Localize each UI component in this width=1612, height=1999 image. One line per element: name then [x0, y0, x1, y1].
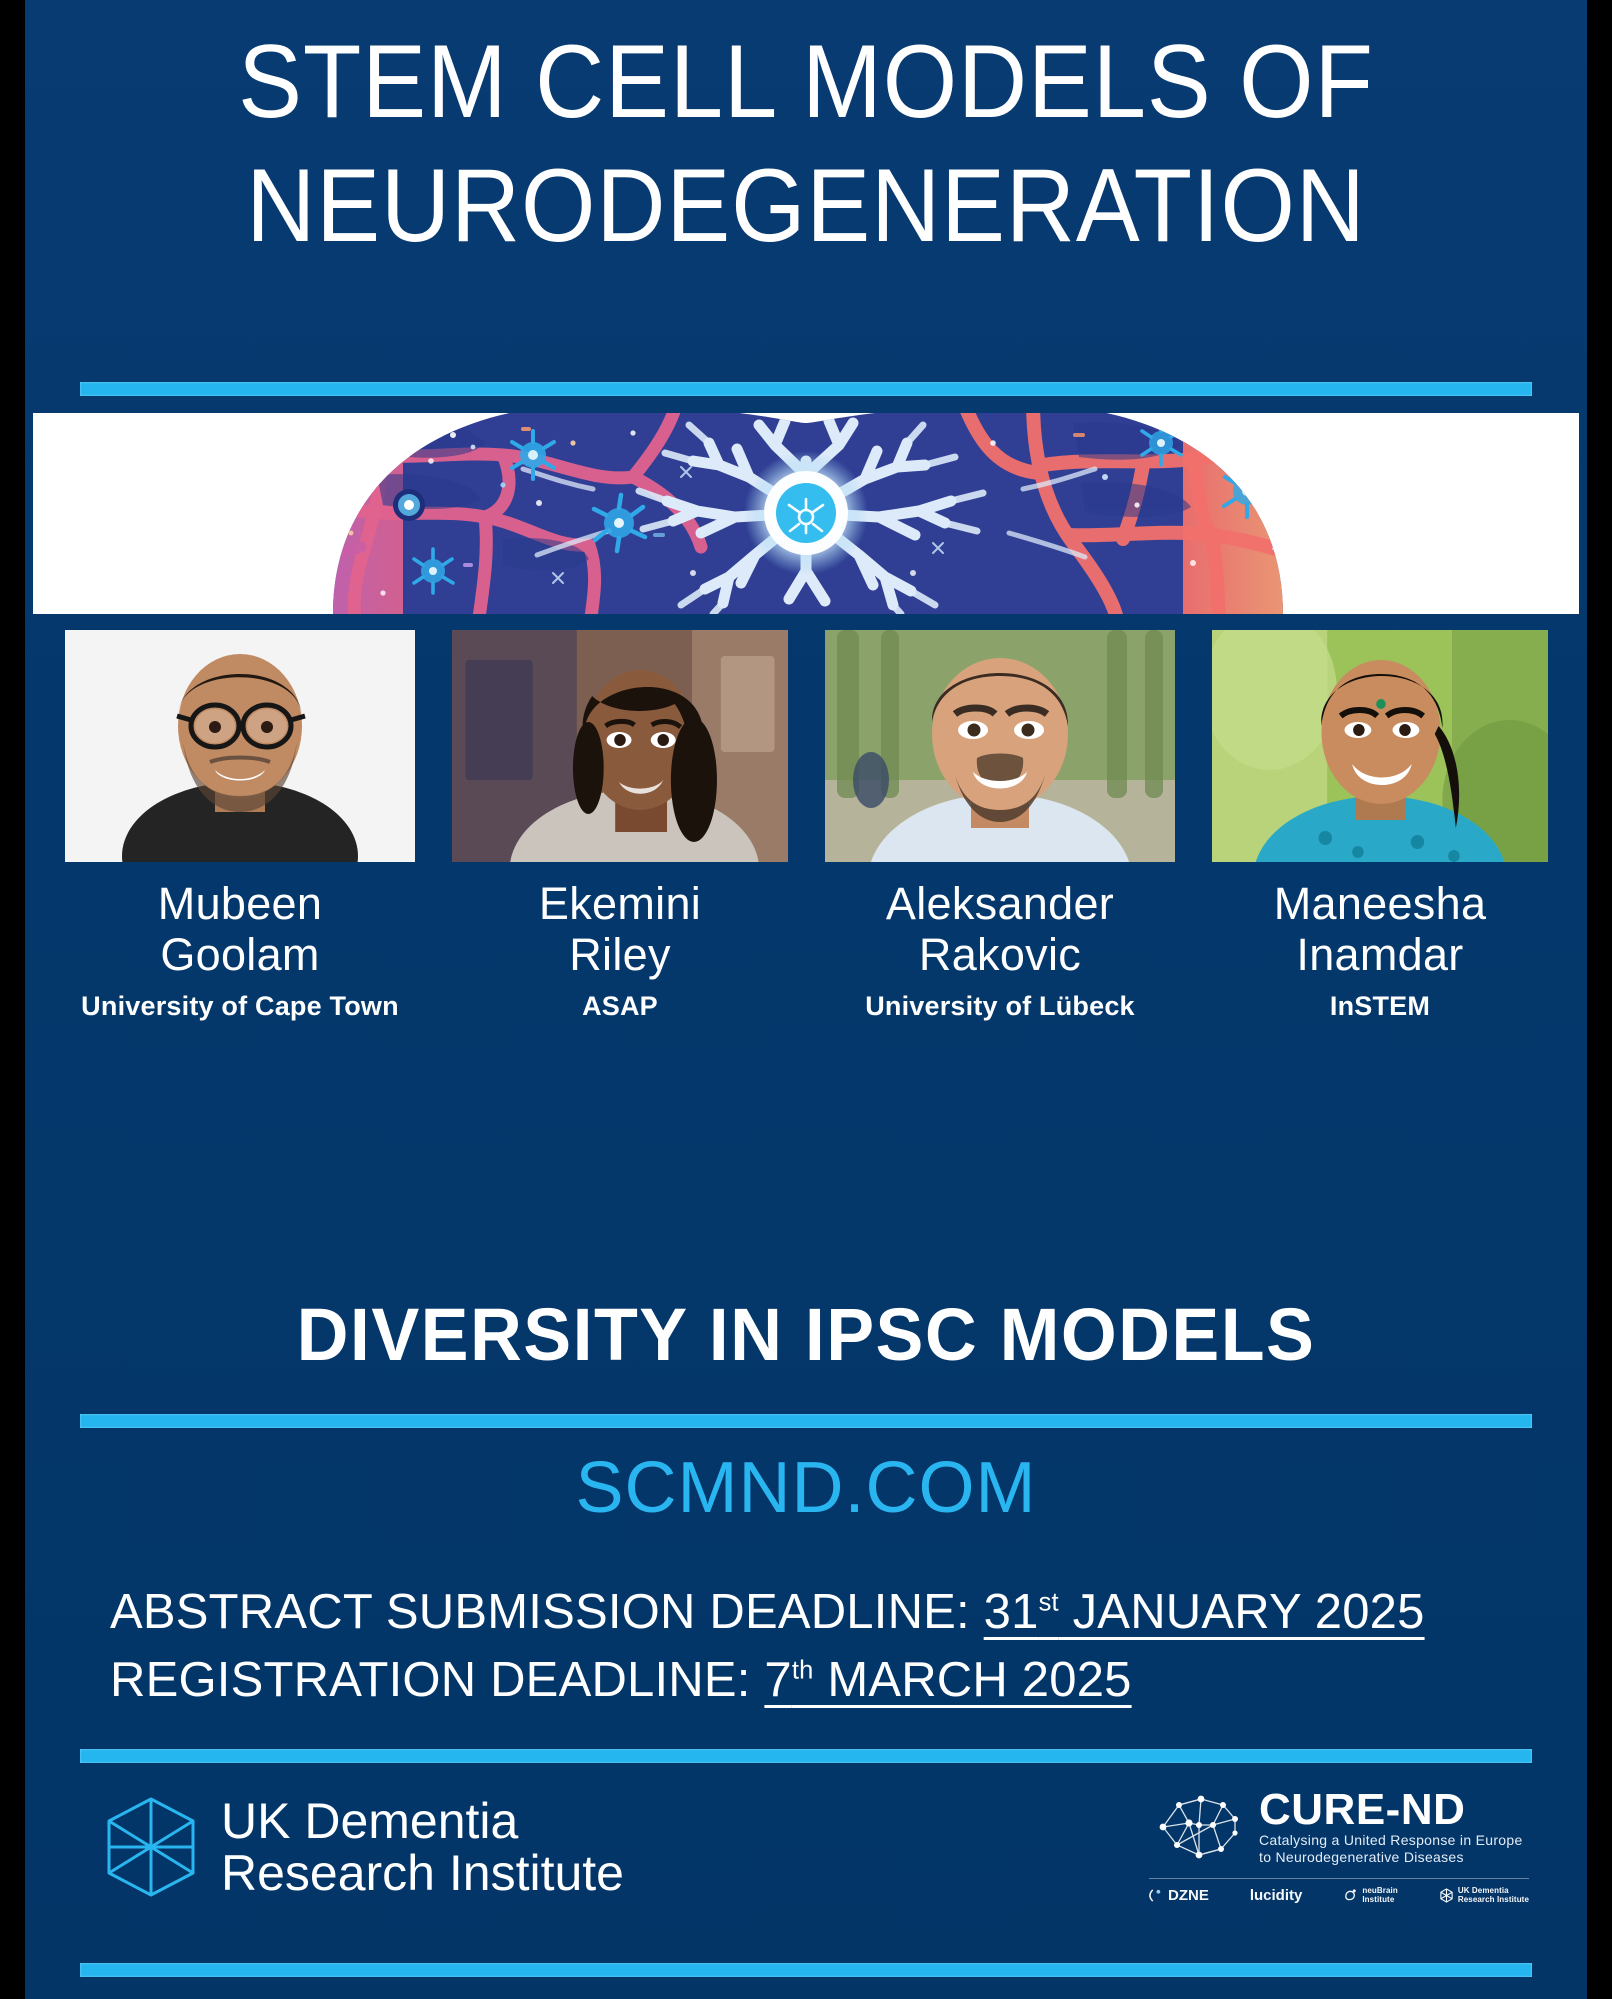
partner-label-line1: neuBrain	[1362, 1886, 1397, 1895]
curend-partner-logos: DZNE lucidity neuBrain Institute	[1149, 1886, 1529, 1904]
deadline-date: 7th MARCH 2025	[764, 1653, 1131, 1707]
title-line-2: NEURODEGENERATION	[87, 144, 1524, 268]
speaker-name: Ekemini Riley	[445, 878, 795, 980]
deadline-row-registration: REGISTRATION DEADLINE: 7th MARCH 2025	[110, 1646, 1510, 1714]
speaker-card-maneesha-inamdar: Maneesha Inamdar InSTEM	[1205, 630, 1555, 1022]
brain-neuron-artwork	[33, 413, 1579, 614]
deadline-row-abstract: ABSTRACT SUBMISSION DEADLINE: 31st JANUA…	[110, 1578, 1510, 1646]
partner-label-line2: Research Institute	[1458, 1895, 1529, 1904]
title-line-1: STEM CELL MODELS OF	[87, 20, 1524, 144]
portrait-icon	[825, 630, 1175, 862]
deadline-ordinal: th	[792, 1657, 814, 1685]
partner-label: DZNE	[1168, 1888, 1209, 1903]
ukdri-crystal-icon	[103, 1795, 199, 1899]
speaker-name: Mubeen Goolam	[65, 878, 415, 980]
speaker-name-line2: Riley	[445, 929, 795, 980]
divider-top	[80, 382, 1532, 396]
deadline-month-year: MARCH 2025	[814, 1653, 1132, 1707]
speaker-affiliation: InSTEM	[1205, 990, 1555, 1022]
curend-tagline-line2: to Neurodegenerative Diseases	[1259, 1849, 1529, 1866]
speaker-card-ekemini-riley: Ekemini Riley ASAP	[445, 630, 795, 1022]
speaker-affiliation: University of Cape Town	[65, 990, 415, 1022]
speaker-photo-mubeen-goolam	[65, 630, 415, 862]
speaker-name-line1: Maneesha	[1205, 878, 1555, 929]
poster-root: STEM CELL MODELS OF NEURODEGENERATION	[25, 0, 1587, 1999]
partner-dzne: DZNE	[1149, 1888, 1209, 1903]
speaker-name: Maneesha Inamdar	[1205, 878, 1555, 980]
partner-label-line1: UK Dementia	[1458, 1886, 1509, 1895]
divider-lower	[80, 1749, 1532, 1763]
speaker-name-line2: Rakovic	[825, 929, 1175, 980]
speaker-name-line2: Goolam	[65, 929, 415, 980]
partner-label: neuBrain Institute	[1362, 1886, 1397, 1904]
theme-headline: DIVERSITY IN IPSC MODELS	[48, 1295, 1563, 1375]
deadline-label: ABSTRACT SUBMISSION DEADLINE:	[110, 1585, 984, 1639]
ukdri-line1: UK Dementia	[221, 1795, 624, 1847]
portrait-icon	[65, 630, 415, 862]
partner-label: UK Dementia Research Institute	[1458, 1886, 1529, 1904]
portrait-icon	[1212, 630, 1548, 862]
speaker-affiliation: University of Lübeck	[825, 990, 1175, 1022]
divider-bottom	[80, 1963, 1532, 1977]
speaker-photo-aleksander-rakovic	[825, 630, 1175, 862]
speaker-card-mubeen-goolam: Mubeen Goolam University of Cape Town	[65, 630, 415, 1022]
curend-tagline-line1: Catalysing a United Response in Europe	[1259, 1832, 1529, 1849]
ukdri-mark-icon	[1439, 1888, 1454, 1903]
deadline-day: 31	[984, 1585, 1039, 1639]
ukdri-wordmark: UK Dementia Research Institute	[221, 1795, 624, 1899]
curend-text: CURE-ND Catalysing a United Response in …	[1259, 1788, 1529, 1866]
curend-wordmark: CURE-ND	[1259, 1788, 1529, 1832]
ukdri-logo: UK Dementia Research Institute	[103, 1795, 624, 1899]
curend-primary: CURE-ND Catalysing a United Response in …	[1149, 1785, 1529, 1869]
speaker-name-line1: Aleksander	[825, 878, 1175, 929]
hero-illustration	[33, 413, 1579, 614]
speakers-row: Mubeen Goolam University of Cape Town	[65, 630, 1555, 1022]
deadline-date: 31st JANUARY 2025	[984, 1585, 1425, 1639]
page-title: STEM CELL MODELS OF NEURODEGENERATION	[25, 20, 1587, 268]
logos-row: UK Dementia Research Institute	[25, 1785, 1587, 1945]
speaker-name-line2: Inamdar	[1205, 929, 1555, 980]
partner-label-line2: Institute	[1362, 1895, 1394, 1904]
portrait-icon	[452, 630, 788, 862]
deadlines-block: ABSTRACT SUBMISSION DEADLINE: 31st JANUA…	[110, 1578, 1510, 1714]
deadline-month-year: JANUARY 2025	[1059, 1585, 1425, 1639]
divider-middle	[80, 1414, 1532, 1428]
speaker-photo-maneesha-inamdar	[1212, 630, 1548, 862]
curend-divider	[1149, 1878, 1529, 1879]
deadline-day: 7	[764, 1653, 791, 1707]
dzne-mark-icon	[1149, 1888, 1164, 1903]
partner-lucidity: lucidity	[1250, 1888, 1303, 1903]
speaker-card-aleksander-rakovic: Aleksander Rakovic University of Lübeck	[825, 630, 1175, 1022]
deadline-label: REGISTRATION DEADLINE:	[110, 1653, 764, 1707]
curend-brain-network-icon	[1149, 1785, 1249, 1869]
speaker-name-line1: Ekemini	[445, 878, 795, 929]
curend-logo: CURE-ND Catalysing a United Response in …	[1149, 1785, 1529, 1904]
ukdri-line2: Research Institute	[221, 1847, 624, 1899]
partner-neubrain-institute: neuBrain Institute	[1343, 1886, 1397, 1904]
speaker-photo-ekemini-riley	[452, 630, 788, 862]
website-link[interactable]: SCMND.COM	[25, 1448, 1587, 1528]
partner-ukdri: UK Dementia Research Institute	[1439, 1886, 1529, 1904]
neubrain-mark-icon	[1343, 1888, 1358, 1903]
speaker-name-line1: Mubeen	[65, 878, 415, 929]
speaker-affiliation: ASAP	[445, 990, 795, 1022]
partner-label: lucidity	[1250, 1888, 1303, 1903]
speaker-name: Aleksander Rakovic	[825, 878, 1175, 980]
deadline-ordinal: st	[1039, 1589, 1059, 1617]
